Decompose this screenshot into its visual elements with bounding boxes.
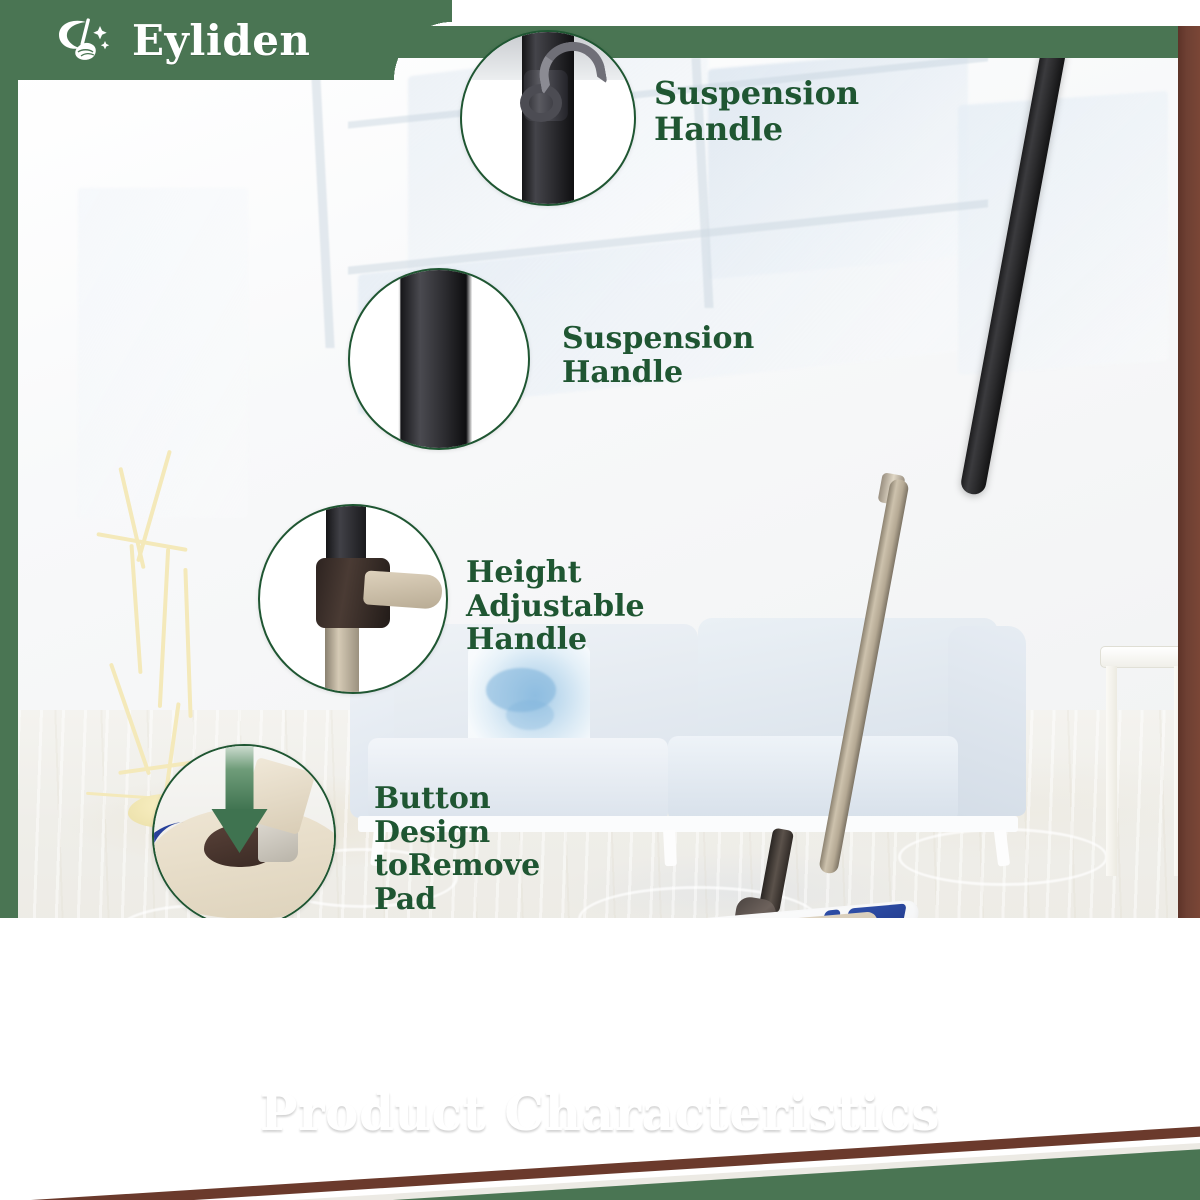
callout-circle-clamp[interactable]	[258, 504, 448, 694]
right-brown-border	[1178, 0, 1200, 992]
footer-banner: Product Characteristics	[0, 918, 1200, 1200]
brand-logo[interactable]: Eyliden	[56, 12, 310, 68]
mop-sparkle-icon	[56, 16, 118, 64]
left-green-border	[0, 0, 18, 992]
arrow-down-icon	[212, 744, 268, 857]
window-light-panel	[958, 91, 1168, 376]
brand-name: Eyliden	[132, 16, 310, 65]
clamp-release-tab	[363, 570, 443, 609]
infographic-canvas: Eyliden Suspension Handle Suspension Han…	[0, 0, 1200, 1200]
rod-grip-icon	[398, 270, 472, 448]
white-side-table	[1100, 646, 1182, 906]
callout-label-suspension-handle-grip: Suspension Handle	[562, 322, 754, 389]
callout-label-suspension-handle-top: Suspension Handle	[654, 76, 859, 148]
callout-circle-pad-button[interactable]	[152, 744, 336, 928]
footer-title: Product Characteristics	[0, 1083, 1200, 1142]
callout-label-button-design-remove-pad: Button Design toRemove Pad	[374, 782, 540, 916]
callout-circle-hook[interactable]	[460, 30, 636, 206]
callout-circle-grip[interactable]	[348, 268, 530, 450]
callout-label-height-adjustable-handle: Height Adjustable Handle	[466, 556, 645, 657]
lower-pole-segment	[325, 618, 359, 694]
